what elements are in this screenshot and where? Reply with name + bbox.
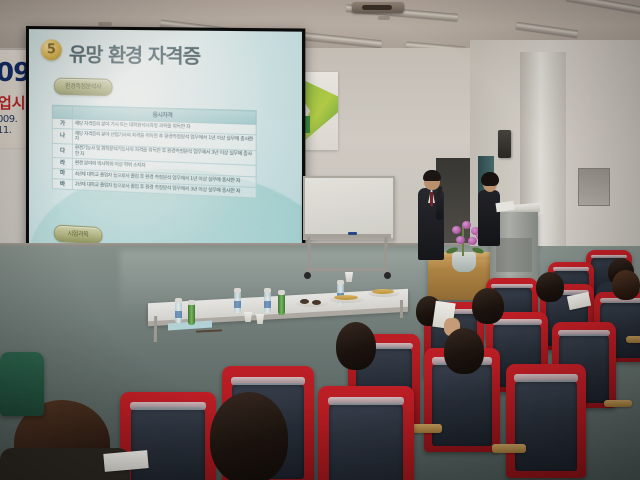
audience-head bbox=[472, 288, 504, 324]
snack-item bbox=[372, 289, 394, 294]
slide-pill-bottom: 시험과목 bbox=[54, 224, 103, 244]
seminar-room-photograph: 09 업시 009. 11. 수회 전략토론 환경정책과 5 유망 환경 자격증… bbox=[0, 0, 640, 480]
auditorium-seat bbox=[318, 386, 414, 480]
row-key: 다 bbox=[52, 143, 72, 158]
ceiling-projector bbox=[352, 2, 404, 13]
flower-vase bbox=[452, 252, 476, 272]
snack-item bbox=[300, 299, 309, 304]
audience-head bbox=[336, 322, 376, 370]
orchid-bloom bbox=[468, 237, 477, 245]
table-header-key bbox=[52, 105, 72, 119]
audience-head bbox=[536, 272, 564, 302]
paper-cup bbox=[244, 312, 252, 322]
table-leg bbox=[154, 316, 157, 342]
row-key: 바 bbox=[52, 179, 72, 190]
paper-cup bbox=[345, 272, 353, 282]
water-bottle bbox=[234, 292, 241, 313]
slide-title: 유망 환경 자격증 bbox=[69, 40, 200, 70]
whiteboard-caster bbox=[304, 272, 311, 279]
orchid-bloom bbox=[462, 221, 471, 229]
whiteboard-tray bbox=[303, 234, 391, 238]
paper-cup bbox=[256, 314, 264, 324]
handout-booklet bbox=[103, 450, 148, 472]
auditorium-seat bbox=[506, 364, 586, 478]
beverage-bottle bbox=[188, 304, 195, 325]
audience-head bbox=[210, 392, 288, 480]
seat-armrest bbox=[604, 400, 632, 407]
auditorium-seat bbox=[0, 352, 44, 416]
podium-person-body bbox=[478, 190, 500, 246]
water-bottle bbox=[175, 302, 182, 323]
wall-speaker bbox=[498, 130, 511, 158]
whiteboard-caster bbox=[384, 272, 391, 279]
whiteboard bbox=[303, 176, 395, 240]
row-key: 가 bbox=[52, 118, 72, 129]
snack-item bbox=[334, 295, 358, 300]
table-leg bbox=[400, 300, 403, 318]
podium-person-hair bbox=[481, 172, 499, 186]
presenter-tie bbox=[430, 192, 433, 206]
seat-armrest bbox=[626, 336, 640, 343]
lectern-front-panel bbox=[496, 238, 532, 272]
wall-control-panel bbox=[578, 168, 610, 206]
water-bottle bbox=[264, 292, 271, 313]
beverage-bottle bbox=[278, 294, 285, 315]
presenter-hair bbox=[423, 170, 441, 181]
slide-eligibility-table: 응시자격 가 해당 자격증의 분야 기사 또는 대학원석사과정 과목을 취득한 … bbox=[52, 105, 257, 199]
whiteboard-marker bbox=[348, 232, 357, 235]
whiteboard-crossbar bbox=[306, 268, 388, 271]
slide-pill-top: 환경측정분석사 bbox=[54, 78, 113, 97]
presenter-arm bbox=[436, 196, 443, 220]
slide-badge-number: 5 bbox=[41, 39, 62, 60]
seat-armrest bbox=[492, 444, 526, 453]
orchid-bloom bbox=[456, 236, 465, 244]
snack-item bbox=[312, 300, 321, 305]
audience-head bbox=[612, 270, 640, 300]
seat-armrest bbox=[410, 424, 442, 433]
audience-head bbox=[444, 328, 484, 374]
orchid-bloom bbox=[452, 226, 461, 234]
row-key: 나 bbox=[52, 129, 72, 144]
left-banner-red: 업시 bbox=[0, 92, 26, 113]
